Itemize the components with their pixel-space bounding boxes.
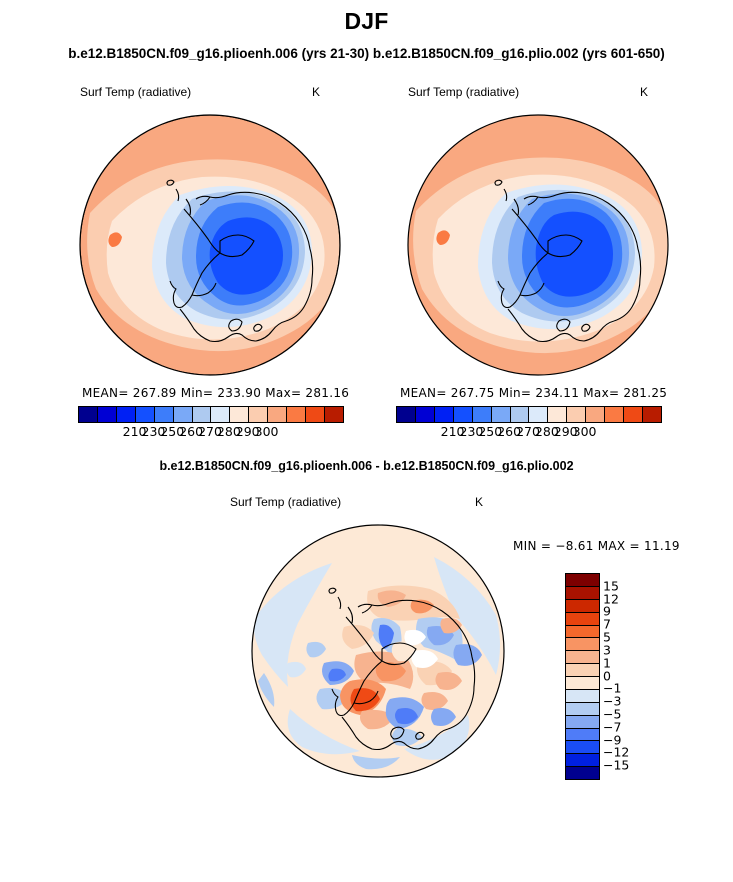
colorbar-swatch [492,407,511,422]
colorbar-swatch [529,407,548,422]
panel-diff-stats: MIN = −8.61 MAX = 11.19 [513,539,680,553]
panel-difference: Surf Temp (radiative) K [200,495,540,785]
colorbar-swatch [435,407,454,422]
colorbar-swatch [325,407,343,422]
colorbar-swatch [566,690,599,703]
colorbar-swatch [566,754,599,767]
colorbar-swatch [567,407,586,422]
colorbar-swatch [306,407,325,422]
page-title: DJF [0,8,733,35]
colorbar-swatch [548,407,567,422]
colorbar-left-labels: 210230250260270280290300 [78,424,342,440]
colorbar-swatch [473,407,492,422]
colorbar-difference[interactable] [565,573,600,780]
colorbar-swatch [566,741,599,754]
difference-title: b.e12.B1850CN.f09_g16.plioenh.006 - b.e1… [0,459,733,473]
panel-left: Surf Temp (radiative) K [60,85,360,385]
colorbar-tick-label: 300 [573,424,597,439]
colorbar-difference-labels: 1512975310−1−3−5−7−9−12−15 [603,573,643,778]
colorbar-swatch [586,407,605,422]
colorbar-swatch [566,664,599,677]
map-plot-left [60,103,360,388]
colorbar-swatch [566,626,599,639]
colorbar-swatch [566,587,599,600]
panel-diff-variable-label: Surf Temp (radiative) [230,495,341,509]
colorbar-swatch [397,407,416,422]
colorbar-swatch [566,600,599,613]
colorbar-right-labels: 210230250260270280290300 [396,424,660,440]
colorbar-tick-label: 300 [255,424,279,439]
colorbar-swatch [230,407,249,422]
colorbar-swatch [566,767,599,779]
colorbar-swatch [643,407,661,422]
colorbar-swatch [511,407,530,422]
map-plot-difference [228,523,528,783]
panel-left-variable-label: Surf Temp (radiative) [80,85,191,99]
colorbar-swatch [174,407,193,422]
colorbar-swatch [287,407,306,422]
panel-right-unit-label: K [640,85,648,99]
map-plot-right [388,103,688,388]
colorbar-swatch [98,407,117,422]
panel-left-unit-label: K [312,85,320,99]
figure-canvas: DJF b.e12.B1850CN.f09_g16.plioenh.006 (y… [0,0,733,882]
colorbar-swatch [566,703,599,716]
colorbar-tick-label: −15 [603,758,629,773]
colorbar-swatch [268,407,287,422]
subtitle-cases: b.e12.B1850CN.f09_g16.plioenh.006 (yrs 2… [0,46,733,61]
colorbar-swatch [566,638,599,651]
colorbar-swatch [416,407,435,422]
panel-right-variable-label: Surf Temp (radiative) [408,85,519,99]
panel-diff-unit-label: K [475,495,483,509]
colorbar-swatch [454,407,473,422]
panel-left-stats: MEAN= 267.89 Min= 233.90 Max= 281.16 [82,386,349,400]
colorbar-swatch [566,613,599,626]
colorbar-right[interactable] [396,406,662,423]
colorbar-swatch [566,729,599,742]
colorbar-swatch [566,574,599,587]
colorbar-swatch [193,407,212,422]
colorbar-swatch [155,407,174,422]
colorbar-swatch [79,407,98,422]
colorbar-left[interactable] [78,406,344,423]
colorbar-swatch [136,407,155,422]
panel-right: Surf Temp (radiative) K [388,85,688,385]
colorbar-swatch [624,407,643,422]
panel-right-stats: MEAN= 267.75 Min= 234.11 Max= 281.25 [400,386,667,400]
colorbar-swatch [566,651,599,664]
colorbar-swatch [566,677,599,690]
colorbar-swatch [211,407,230,422]
colorbar-swatch [566,716,599,729]
colorbar-swatch [249,407,268,422]
colorbar-swatch [117,407,136,422]
colorbar-swatch [605,407,624,422]
